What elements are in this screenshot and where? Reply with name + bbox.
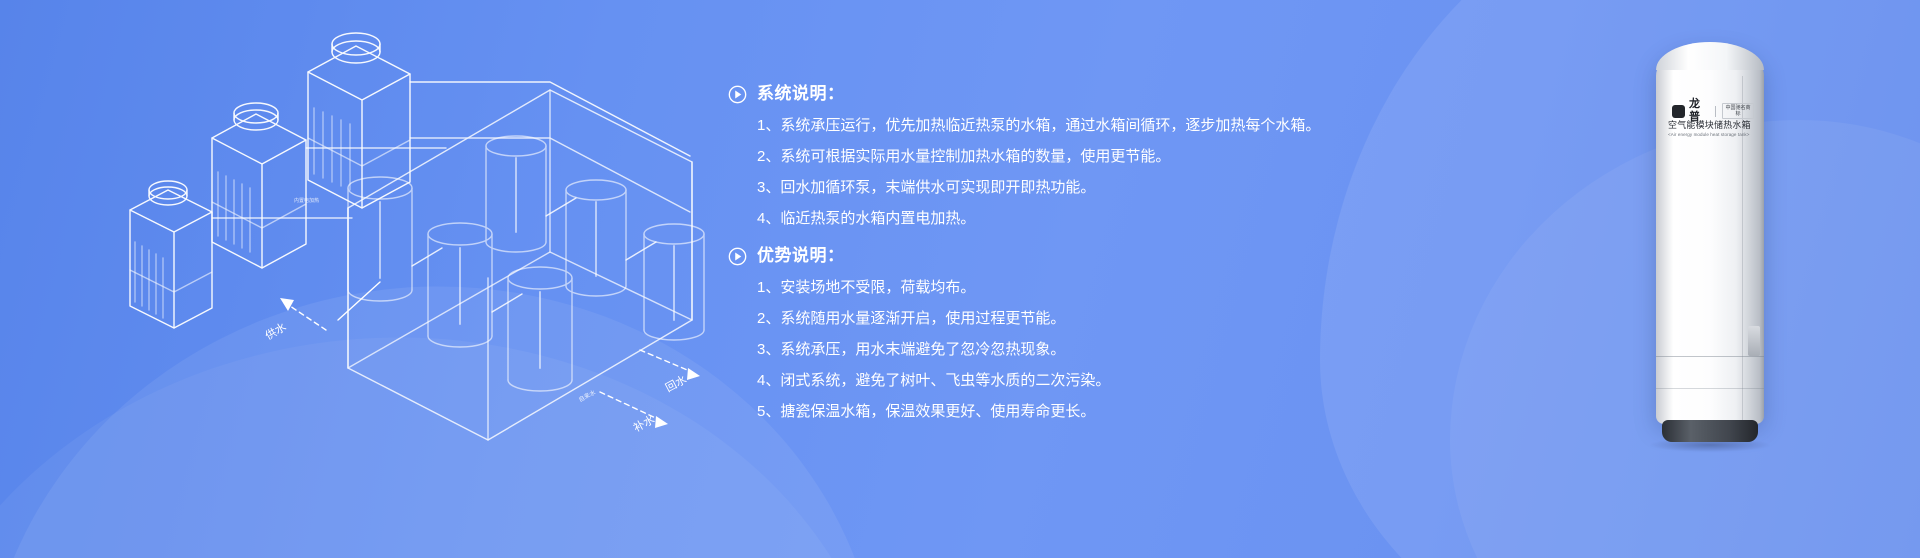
list-item: 3、回水加循环泵，末端供水可实现即开即热功能。 (757, 172, 1328, 203)
heat-pump-unit-3 (308, 33, 410, 208)
tank-seam-1 (1656, 356, 1764, 357)
section-advantage-title: 优势说明： (757, 246, 845, 266)
section-advantage: 优势说明： 1、安装场地不受限，荷载均布。 2、系统随用水量逐渐开启，使用过程更… (728, 246, 1328, 427)
section-advantage-list: 1、安装场地不受限，荷载均布。 2、系统随用水量逐渐开启，使用过程更节能。 3、… (728, 272, 1328, 427)
spec-content: 系统说明： 1、系统承压运行，优先加热临近热泵的水箱，通过水箱间循环，逐步加热每… (728, 84, 1328, 429)
flow-return (640, 350, 700, 380)
diagram-label-supply: 供水 (263, 319, 289, 342)
pipe-network (212, 82, 692, 440)
decorative-wave-right (1320, 0, 1920, 558)
section-system-title: 系统说明： (757, 84, 845, 104)
banner-root: 供水 回水 补水 自来水 内置电加热 系统说明： 1、系统承压运行，优先加热临近… (0, 0, 1920, 558)
section-system-list: 1、系统承压运行，优先加热临近热泵的水箱，通过水箱间循环，逐步加热每个水箱。 2… (728, 110, 1328, 234)
list-item: 4、闭式系统，避免了树叶、飞虫等水质的二次污染。 (757, 365, 1328, 396)
product-image: 龙普 中国驰名商标 空气能模块储热水箱 <Air energy module h… (1646, 36, 1774, 456)
diagram-label-return: 回水 (663, 373, 689, 395)
tank-control-panel (1748, 326, 1760, 356)
list-item: 4、临近热泵的水箱内置电加热。 (757, 203, 1328, 234)
list-item: 2、系统可根据实际用水量控制加热水箱的数量，使用更节能。 (757, 141, 1328, 172)
list-item: 5、搪瓷保温水箱，保温效果更好、使用寿命更长。 (757, 396, 1328, 427)
section-system: 系统说明： 1、系统承压运行，优先加热临近热泵的水箱，通过水箱间循环，逐步加热每… (728, 84, 1328, 234)
brand-badge: 中国驰名商标 (1722, 103, 1754, 119)
play-circle-icon (728, 247, 747, 266)
diagram-label-electric-heat: 内置电加热 (294, 197, 319, 204)
flow-supply (280, 282, 380, 330)
list-item: 1、系统承压运行，优先加热临近热泵的水箱，通过水箱间循环，逐步加热每个水箱。 (757, 110, 1328, 141)
diagram-label-tapwater: 自来水 (577, 388, 597, 404)
play-circle-icon (728, 85, 747, 104)
section-advantage-header: 优势说明： (728, 246, 1328, 266)
tank-top-cap (1656, 42, 1764, 70)
brand-divider (1715, 106, 1716, 117)
heat-pump-unit-2 (212, 103, 306, 268)
product-name-en: <Air energy module heat storage tank> (1668, 132, 1764, 138)
section-divider-space (728, 236, 1328, 246)
list-item: 2、系统随用水量逐渐开启，使用过程更节能。 (757, 303, 1328, 334)
brand-logo-icon (1672, 105, 1685, 118)
product-name-cn: 空气能模块储热水箱 (1668, 120, 1760, 131)
list-item: 3、系统承压，用水末端避免了忽冷忽热现象。 (757, 334, 1328, 365)
tank-seam-2 (1656, 388, 1764, 389)
tank-connectors (412, 198, 656, 312)
system-diagram: 供水 回水 补水 自来水 内置电加热 (80, 20, 740, 460)
tank-base (1662, 420, 1758, 442)
heat-pump-unit-1 (130, 181, 212, 328)
tank-array (348, 136, 704, 391)
section-system-header: 系统说明： (728, 84, 1328, 104)
list-item: 1、安装场地不受限，荷载均布。 (757, 272, 1328, 303)
